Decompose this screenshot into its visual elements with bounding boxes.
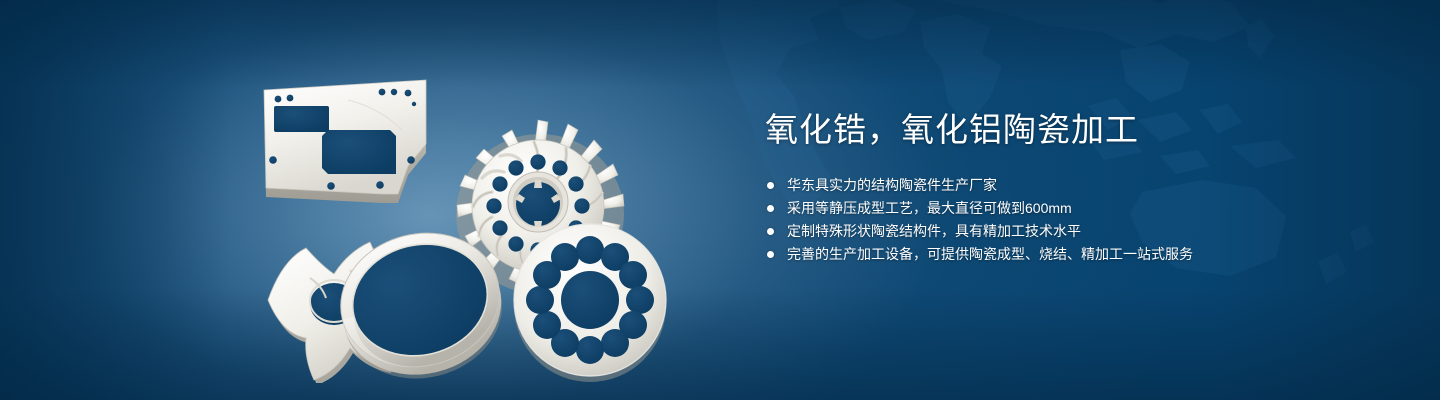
feature-text-3: 定制特殊形状陶瓷结构件，具有精加工技术水平: [787, 223, 1081, 239]
feature-text-4: 完善的生产加工设备，可提供陶瓷成型、烧结、精加工一站式服务: [787, 246, 1193, 262]
feature-text-1: 华东具实力的结构陶瓷件生产厂家: [787, 177, 997, 193]
part-ceramic-perforated-disc: [514, 224, 666, 382]
feature-item-2: 采用等静压成型工艺，最大直径可做到600mm: [765, 197, 1385, 220]
feature-text-2: 采用等静压成型工艺，最大直径可做到600mm: [787, 200, 1072, 216]
bullet-dot-icon: [767, 228, 774, 235]
product-photo: [230, 38, 700, 383]
bullet-dot-icon: [767, 251, 774, 258]
bullet-dot-icon: [767, 182, 774, 189]
banner-headline: 氧化锆，氧化铝陶瓷加工: [765, 108, 1385, 152]
banner-feature-list: 华东具实力的结构陶瓷件生产厂家 采用等静压成型工艺，最大直径可做到600mm 定…: [765, 174, 1385, 266]
part-ceramic-plate: [264, 80, 426, 203]
banner-copy: 氧化锆，氧化铝陶瓷加工 华东具实力的结构陶瓷件生产厂家 采用等静压成型工艺，最大…: [765, 108, 1385, 266]
feature-item-1: 华东具实力的结构陶瓷件生产厂家: [765, 174, 1385, 197]
feature-item-3: 定制特殊形状陶瓷结构件，具有精加工技术水平: [765, 220, 1385, 243]
hero-banner: 氧化锆，氧化铝陶瓷加工 华东具实力的结构陶瓷件生产厂家 采用等静压成型工艺，最大…: [0, 0, 1440, 400]
bullet-dot-icon: [767, 205, 774, 212]
feature-item-4: 完善的生产加工设备，可提供陶瓷成型、烧结、精加工一站式服务: [765, 243, 1385, 266]
